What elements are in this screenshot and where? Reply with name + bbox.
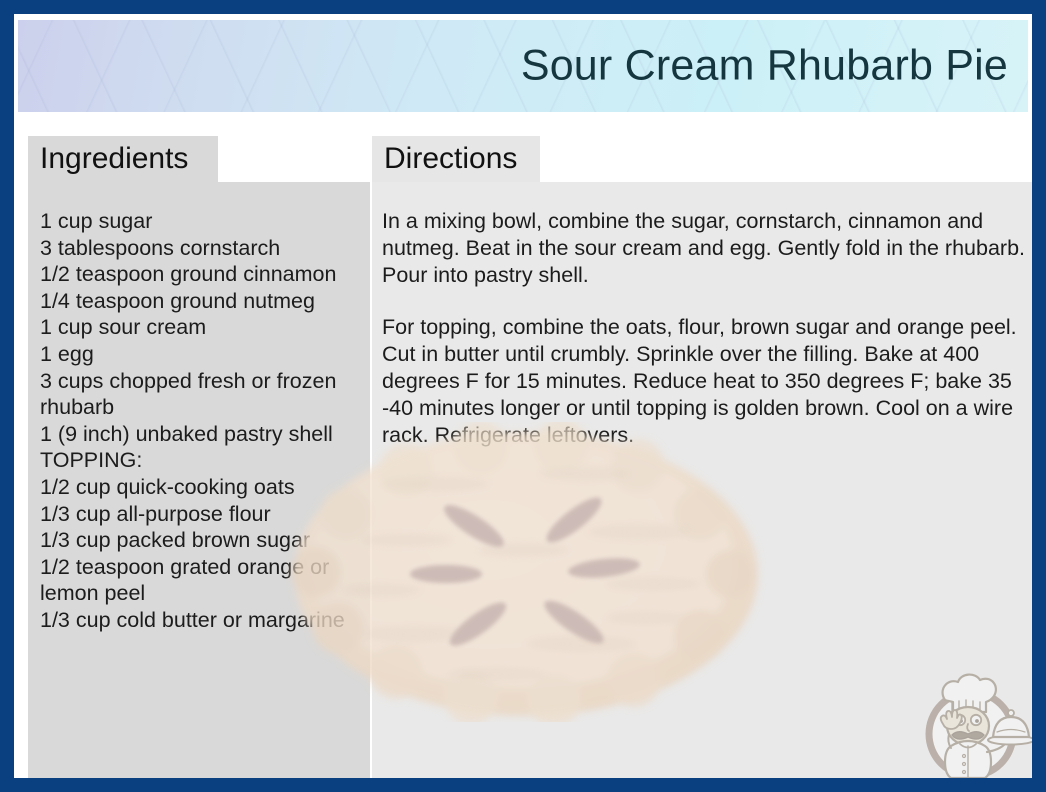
directions-text: In a mixing bowl, combine the sugar, cor… xyxy=(372,182,1042,792)
list-item: 1/2 teaspoon ground cinnamon xyxy=(40,261,360,288)
list-item: 1/3 cup all-purpose flour xyxy=(40,501,360,528)
list-item: 1/2 teaspoon grated orange or lemon peel xyxy=(40,554,360,607)
list-item: 1 cup sugar xyxy=(40,208,360,235)
direction-paragraph: In a mixing bowl, combine the sugar, cor… xyxy=(382,208,1030,289)
title-banner: Sour Cream Rhubarb Pie xyxy=(18,20,1028,112)
direction-paragraph: For topping, combine the oats, flour, br… xyxy=(382,314,1030,449)
list-item: 3 tablespoons cornstarch xyxy=(40,235,360,262)
list-item: 1/2 cup quick-cooking oats xyxy=(40,474,360,501)
recipe-card: Sour Cream Rhubarb Pie Ingredients 1 cup… xyxy=(0,0,1046,792)
ingredients-heading: Ingredients xyxy=(40,142,188,176)
ingredients-panel: Ingredients 1 cup sugar 3 tablespoons co… xyxy=(28,136,370,792)
list-item: 1 egg xyxy=(40,341,360,368)
list-item: 1/3 cup packed brown sugar xyxy=(40,527,360,554)
ingredients-tab: Ingredients xyxy=(28,136,218,182)
ingredients-list: 1 cup sugar 3 tablespoons cornstarch 1/2… xyxy=(28,182,370,792)
list-item: 3 cups chopped fresh or frozen rhubarb xyxy=(40,368,360,421)
directions-panel: Directions In a mixing bowl, combine the… xyxy=(372,136,1042,792)
page-title: Sour Cream Rhubarb Pie xyxy=(521,42,1008,91)
list-item: 1/4 teaspoon ground nutmeg xyxy=(40,288,360,315)
directions-heading: Directions xyxy=(384,142,517,176)
directions-tab: Directions xyxy=(372,136,540,182)
list-item: TOPPING: xyxy=(40,447,360,474)
list-item: 1/3 cup cold butter or margarine xyxy=(40,607,360,634)
list-item: 1 (9 inch) unbaked pastry shell xyxy=(40,421,360,448)
list-item: 1 cup sour cream xyxy=(40,314,360,341)
